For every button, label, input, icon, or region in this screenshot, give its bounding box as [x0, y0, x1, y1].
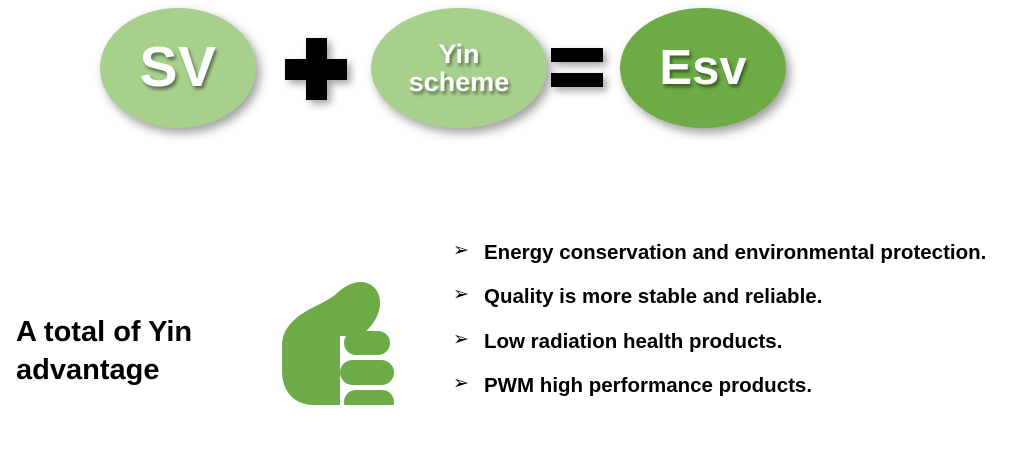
- list-item-label: PWM high performance products.: [484, 374, 812, 397]
- list-item-label: Low radiation health products.: [484, 330, 782, 353]
- list-item-label: Energy conservation and environmental pr…: [484, 241, 986, 264]
- bubble-sv: SV: [100, 8, 256, 128]
- advantage-heading: A total of Yin advantage: [16, 313, 266, 390]
- bubble-esv-label: Esv: [659, 43, 746, 94]
- bubble-esv: Esv: [620, 8, 786, 128]
- arrow-bullet-icon: ➢: [453, 235, 469, 268]
- list-item: ➢ PWM high performance products.: [450, 368, 1010, 403]
- arrow-bullet-icon: ➢: [453, 324, 469, 357]
- equals-sign-icon: [551, 48, 603, 88]
- bubble-yin-scheme-label: Yin scheme: [409, 40, 510, 96]
- advantage-bullet-list: ➢ Energy conservation and environmental …: [450, 235, 1010, 412]
- arrow-bullet-icon: ➢: [453, 368, 469, 401]
- slide-canvas: SV Yin scheme Esv A total of Yin advanta…: [0, 0, 1016, 454]
- list-item-label: Quality is more stable and reliable.: [484, 285, 822, 308]
- list-item: ➢ Quality is more stable and reliable.: [450, 279, 1010, 314]
- bubble-sv-label: SV: [139, 38, 216, 97]
- advantage-section: A total of Yin advantage ➢ Energy conser…: [0, 235, 1016, 454]
- list-item: ➢ Low radiation health products.: [450, 324, 1010, 359]
- equals-bar-bottom: [551, 73, 603, 87]
- arrow-bullet-icon: ➢: [453, 279, 469, 312]
- equation-row: SV Yin scheme Esv: [0, 0, 1016, 145]
- plus-sign-icon: [285, 38, 347, 100]
- thumbs-up-icon: [278, 253, 396, 405]
- bubble-yin-scheme: Yin scheme: [371, 8, 547, 128]
- list-item: ➢ Energy conservation and environmental …: [450, 235, 1010, 270]
- equals-bar-top: [551, 48, 603, 62]
